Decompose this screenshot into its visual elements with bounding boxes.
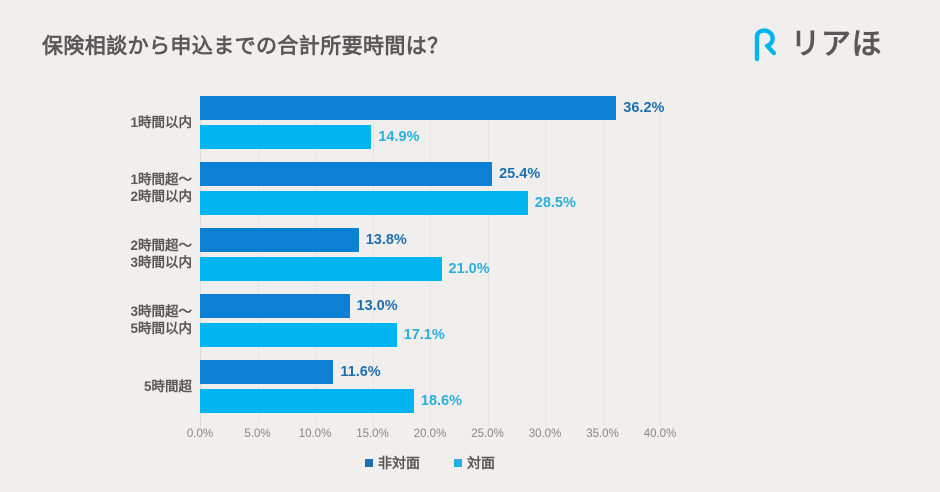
legend-label: 非対面 xyxy=(378,453,420,473)
page-title: 保険相談から申込までの合計所要時間は？ xyxy=(42,30,449,60)
x-axis-tick-label: 5.0% xyxy=(244,428,270,440)
bar-対面 xyxy=(200,323,397,347)
legend-item-非対面[interactable]: 非対面 xyxy=(365,453,420,473)
bar-row: 18.6% xyxy=(200,389,462,413)
bar-value-label: 14.9% xyxy=(378,129,419,145)
x-axis-tick-label: 10.0% xyxy=(299,428,332,440)
brand-name: リアほ xyxy=(791,30,883,60)
bar-row: 14.9% xyxy=(200,125,419,149)
chart-legend: 非対面対面 xyxy=(200,453,660,473)
legend-swatch-icon xyxy=(454,459,462,467)
bar-value-label: 11.6% xyxy=(340,364,380,380)
bar-value-label: 13.0% xyxy=(357,298,398,314)
bar-対面 xyxy=(200,389,414,413)
bar-group: 25.4%28.5% xyxy=(200,162,660,218)
bar-対面 xyxy=(200,257,442,281)
category-label: 1時間超～ 2時間以内 xyxy=(12,171,192,205)
category-label: 2時間超～ 3時間以内 xyxy=(12,237,192,271)
category-label: 3時間超～ 5時間以内 xyxy=(12,303,192,337)
x-axis-tick-label: 25.0% xyxy=(471,428,504,440)
bar-chart: 1時間以内1時間超～ 2時間以内2時間超～ 3時間以内3時間超～ 5時間以内5時… xyxy=(0,88,940,492)
bar-row: 11.6% xyxy=(200,360,381,384)
x-axis-tick-label: 0.0% xyxy=(187,428,213,440)
y-axis-category-labels: 1時間以内1時間超～ 2時間以内2時間超～ 3時間以内3時間超～ 5時間以内5時… xyxy=(10,96,192,426)
x-axis-tick-label: 35.0% xyxy=(586,428,619,440)
bar-row: 17.1% xyxy=(200,323,445,347)
bar-row: 13.8% xyxy=(200,228,407,252)
x-axis-tick-label: 40.0% xyxy=(644,428,677,440)
bar-非対面 xyxy=(200,294,350,318)
bar-value-label: 36.2% xyxy=(623,100,664,116)
x-axis-tick-label: 15.0% xyxy=(356,428,389,440)
gridline xyxy=(660,96,661,426)
category-label: 5時間超 xyxy=(12,378,192,395)
legend-swatch-icon xyxy=(365,459,373,467)
bar-対面 xyxy=(200,125,371,149)
x-axis-ticks: 0.0%5.0%10.0%15.0%20.0%25.0%30.0%35.0%40… xyxy=(200,428,660,448)
r-logo-icon xyxy=(751,28,785,62)
bar-value-label: 25.4% xyxy=(499,166,540,182)
bar-group: 36.2%14.9% xyxy=(200,96,660,152)
bar-group: 13.0%17.1% xyxy=(200,294,660,350)
bar-非対面 xyxy=(200,360,333,384)
bar-group: 13.8%21.0% xyxy=(200,228,660,284)
x-axis-tick-label: 30.0% xyxy=(529,428,562,440)
bar-value-label: 13.8% xyxy=(366,232,407,248)
bar-非対面 xyxy=(200,162,492,186)
plot-area: 36.2%14.9%25.4%28.5%13.8%21.0%13.0%17.1%… xyxy=(200,96,660,426)
legend-label: 対面 xyxy=(467,453,495,473)
bar-group: 11.6%18.6% xyxy=(200,360,660,416)
chart-header: 保険相談から申込までの合計所要時間は？ リアほ xyxy=(0,0,940,88)
category-label: 1時間以内 xyxy=(12,114,192,131)
bar-対面 xyxy=(200,191,528,215)
bar-row: 28.5% xyxy=(200,191,576,215)
bar-value-label: 28.5% xyxy=(535,195,576,211)
bar-value-label: 21.0% xyxy=(449,261,490,277)
bar-value-label: 18.6% xyxy=(421,393,462,409)
x-axis-tick-label: 20.0% xyxy=(414,428,447,440)
bar-非対面 xyxy=(200,228,359,252)
brand-logo: リアほ xyxy=(751,28,883,62)
bar-value-label: 17.1% xyxy=(404,327,445,343)
bar-row: 36.2% xyxy=(200,96,664,120)
legend-item-対面[interactable]: 対面 xyxy=(454,453,495,473)
bar-row: 25.4% xyxy=(200,162,540,186)
bar-非対面 xyxy=(200,96,616,120)
bar-row: 21.0% xyxy=(200,257,490,281)
bar-row: 13.0% xyxy=(200,294,398,318)
